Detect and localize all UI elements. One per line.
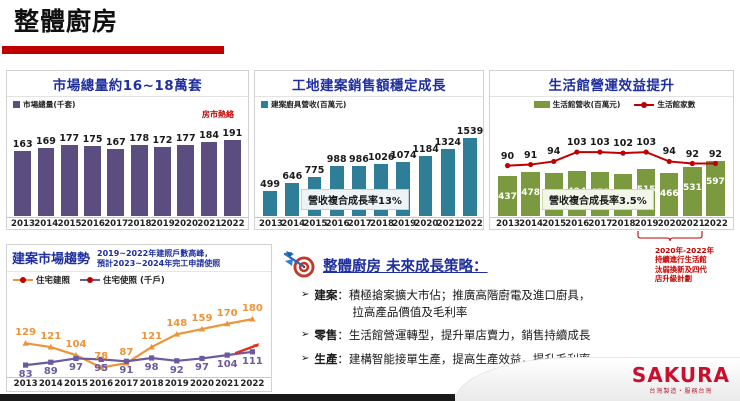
x-tick-label: 2020 [414, 219, 436, 229]
x-tick-label: 2014 [34, 219, 57, 229]
x-tick-label: 2017 [104, 219, 127, 229]
x-tick-label: 2013 [11, 219, 34, 229]
bar-value-label: 775 [301, 165, 327, 176]
bullet-3-sep: ： [337, 352, 349, 366]
x-tick-label: 2022 [459, 219, 481, 229]
legend-swatch-trend-purple [80, 279, 100, 281]
legend-swatch-construction [261, 101, 268, 108]
strategy-title: 整體廚房 未來成長策略： [323, 255, 488, 276]
sakura-logo: SAKURA 台灣製造・服務台灣 [632, 363, 730, 395]
legend-swatch-trend-orange [13, 279, 33, 281]
slide-root: 整體廚房 市場總量約16~18萬套 市場總量(千套) 2013201420152… [0, 0, 740, 401]
plot-lifestyle: 2013201420152016201720182019202020212022… [490, 110, 733, 232]
bullet-1-text: 積極搶案擴大市佔；推廣高階廚電及進口廚具， [349, 288, 591, 302]
bar-value-label: 191 [219, 128, 246, 139]
legend-label-lifestyle-bar: 生活館營收(百萬元) [553, 99, 621, 110]
bar [14, 151, 31, 216]
strategy-bullet-2: ➢ 零售：生活館營運轉型，提升單店賣力，銷售持續成長 [301, 327, 733, 344]
x-tick-label: 2019 [392, 219, 414, 229]
footer-strip [0, 394, 455, 401]
strategy-block: 整體廚房 未來成長策略： ➢ 建案：積極搶案擴大市佔；推廣高階廚電及進口廚具， … [283, 250, 733, 368]
plot-trend: 2013201420152016201720182019202020212022… [7, 286, 271, 392]
bar [263, 191, 277, 216]
construction-cagr-label: 營收複合成長率13% [301, 189, 409, 210]
chart-panel-construction: 工地建案銷售額穩定成長 建案廚具營收(百萬元) 2013201420152016… [254, 70, 484, 230]
legend-trend: 住宅建照 住宅使照 (千戶) [7, 271, 271, 286]
bar [154, 147, 171, 216]
x-tick-label: 2019 [151, 219, 174, 229]
bullet-2-sep: ： [337, 328, 349, 342]
line-value-label: 121 [136, 331, 167, 342]
x-tick-label: 2016 [81, 219, 104, 229]
target-dart-icon [283, 250, 317, 280]
legend-swatch-lifestyle-bar [534, 101, 550, 108]
bar [285, 183, 299, 216]
bar [61, 145, 78, 216]
title-accent-rule [2, 46, 224, 54]
logo-wordmark: SAKURA [632, 363, 730, 387]
bar [107, 149, 124, 216]
trend-subtitle-line-1: 2019~2022年建照戶數高峰， [97, 249, 220, 259]
legend-label-trend-orange: 住宅建照 [36, 274, 70, 286]
x-tick-label: 2022 [221, 219, 244, 229]
strategy-header: 整體廚房 未來成長策略： [283, 250, 733, 280]
panel-title-lifestyle: 生活館營運效益提升 [490, 71, 733, 97]
chart-panel-trend: 建案市場趨勢 2019~2022年建照戶數高峰， 預計2023~2024年完工申… [6, 244, 272, 392]
panel-title-trend: 建案市場趨勢 [12, 248, 90, 267]
bar [224, 140, 241, 216]
line-value-label: 94 [540, 146, 567, 157]
line-value-label: 104 [60, 339, 91, 350]
legend-label-market: 市場總量(千套) [23, 99, 76, 110]
bar [38, 148, 55, 216]
x-tick-label: 2016 [326, 219, 348, 229]
legend-swatch-lifestyle-line [634, 104, 654, 106]
x-tick-label: 2021 [197, 219, 220, 229]
plot-market: 2013201420152016201720182019202020212022… [7, 110, 248, 232]
x-axis: 2013201420152016201720182019202020212022 [255, 217, 483, 232]
x-tick-label: 2018 [370, 219, 392, 229]
bullet-2-label: 零售 [314, 328, 337, 342]
bar [419, 156, 433, 216]
market-hot-note: 房市熱絡 [202, 109, 234, 120]
chart-panel-market-total: 市場總量約16~18萬套 市場總量(千套) 201320142015201620… [6, 70, 249, 230]
x-tick-label: 2021 [437, 219, 459, 229]
bar-value-label: 1539 [457, 126, 483, 137]
panel-title-market: 市場總量約16~18萬套 [7, 71, 248, 97]
bar [201, 142, 218, 216]
bullet-1-label: 建案 [314, 288, 337, 302]
lifestyle-store-count-line [490, 110, 733, 232]
panel-subtitle-trend: 2019~2022年建照戶數高峰， 預計2023~2024年完工申請使照 [97, 248, 220, 269]
bullet-1-content: 建案：積極搶案擴大市佔；推廣高階廚電及進口廚具， [314, 288, 590, 302]
x-tick-label: 2018 [128, 219, 151, 229]
line-value-label: 180 [237, 303, 268, 314]
panel-title-construction: 工地建案銷售額穩定成長 [255, 71, 483, 97]
bar [177, 145, 194, 216]
legend-lifestyle: 生活館營收(百萬元) 生活館家數 [490, 97, 733, 110]
annotation-bracket-icon [636, 230, 708, 244]
x-tick-label: 2015 [58, 219, 81, 229]
legend-construction: 建案廚具營收(百萬元) [255, 97, 483, 110]
chart-panel-lifestyle: 生活館營運效益提升 生活館營收(百萬元) 生活館家數 2013201420152… [489, 70, 734, 230]
x-tick-label: 2017 [348, 219, 370, 229]
bar [84, 146, 101, 216]
trend-subtitle-line-2: 預計2023~2024年完工申請使照 [97, 259, 220, 269]
bullet-1-sep: ： [337, 288, 349, 302]
lifestyle-cagr-label: 營收複合成長率3.5% [542, 189, 654, 210]
bullet-marker-icon-3: ➢ [301, 351, 309, 368]
strategy-bullet-1: ➢ 建案：積極搶案擴大市佔；推廣高階廚電及進口廚具， 拉高產品價值及毛利率 [301, 287, 733, 320]
x-tick-label: 2015 [303, 219, 325, 229]
bullet-3-label: 生產 [314, 352, 337, 366]
x-tick-label: 2020 [174, 219, 197, 229]
bullet-1-text2: 拉高產品價值及毛利率 [314, 304, 590, 321]
line-value-label: 87 [111, 347, 142, 358]
plot-construction: 2013201420152016201720182019202020212022… [255, 110, 483, 232]
bullet-2-content: 零售：生活館營運轉型，提升單店賣力，銷售持續成長 [314, 327, 590, 344]
x-axis: 2013201420152016201720182019202020212022 [7, 217, 248, 232]
trend-header: 建案市場趨勢 2019~2022年建照戶數高峰， 預計2023~2024年完工申… [7, 245, 271, 269]
bar [463, 138, 477, 216]
legend-label-construction: 建案廚具營收(百萬元) [271, 99, 346, 110]
line-value-label: 111 [237, 356, 268, 367]
bullet-marker-icon-1: ➢ [301, 287, 309, 320]
page-title: 整體廚房 [14, 2, 118, 38]
legend-label-trend-purple: 住宅使照 (千戶) [103, 274, 165, 286]
logo-tagline: 台灣製造・服務台灣 [632, 386, 730, 395]
bullet-marker-icon-2: ➢ [301, 327, 309, 344]
legend-label-lifestyle-line: 生活館家數 [657, 99, 695, 110]
bar [441, 149, 455, 216]
legend-swatch-market [13, 101, 20, 108]
bullet-2-text: 生活館營運轉型，提升單店賣力，銷售持續成長 [349, 328, 591, 342]
x-tick-label: 2013 [259, 219, 281, 229]
bar-value-label: 1324 [435, 137, 461, 148]
line-value-label: 92 [702, 149, 729, 160]
x-tick-label: 2014 [281, 219, 303, 229]
bar [131, 145, 148, 216]
